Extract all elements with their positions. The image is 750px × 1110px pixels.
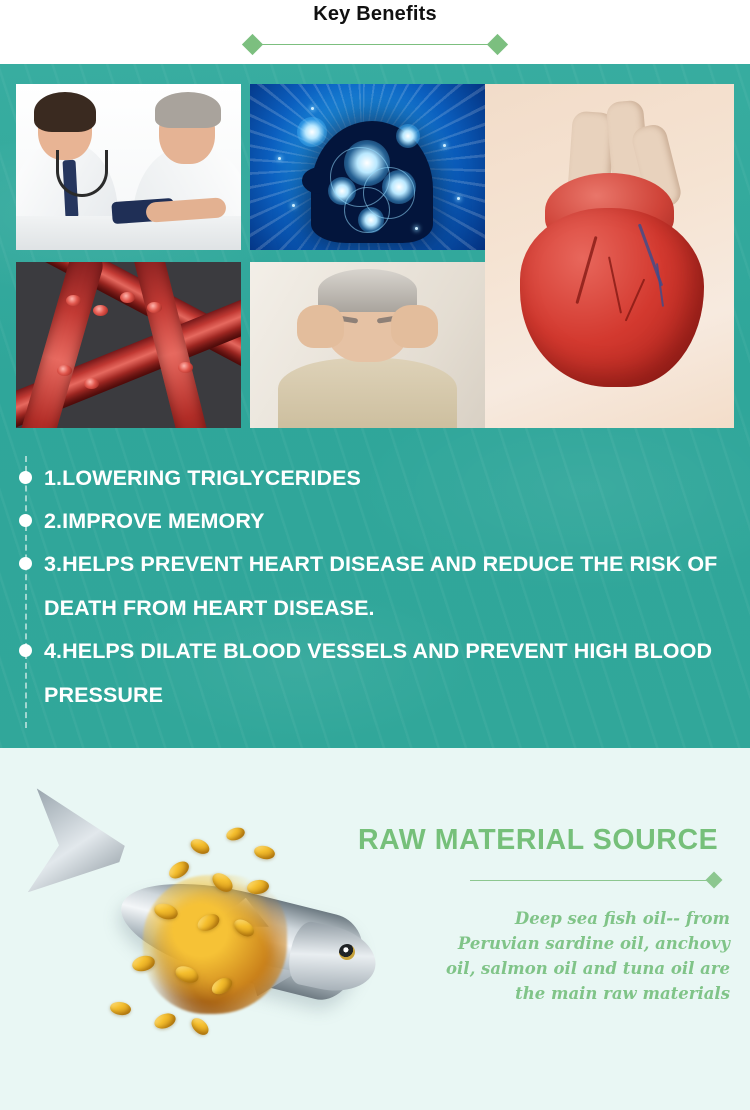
benefit-photo-grid	[16, 84, 734, 428]
hand-on-temple	[391, 305, 438, 348]
neural-glow	[396, 124, 420, 148]
raw-material-section: RAW MATERIAL SOURCE Deep sea fish oil-- …	[0, 748, 750, 1110]
softgel-capsule	[188, 836, 212, 857]
fish-tail	[26, 789, 130, 903]
header-divider	[246, 36, 504, 52]
page-header: Key Benefits	[0, 0, 750, 64]
bullet-icon	[19, 514, 32, 527]
hand-on-temple	[297, 305, 344, 348]
neural-ring	[344, 187, 390, 233]
fish-oil-capsules-photo	[24, 776, 384, 1066]
bullet-icon	[19, 557, 32, 570]
red-blood-cell	[147, 302, 162, 313]
red-blood-cell	[93, 305, 108, 316]
neural-glow	[297, 117, 327, 147]
benefits-section: 1.LOWERING TRIGLYCERIDES 2.IMPROVE MEMOR…	[0, 64, 750, 748]
divider-line	[470, 880, 708, 882]
heart-ventricle	[520, 208, 704, 387]
softgel-capsule	[188, 1014, 211, 1037]
sweater	[278, 358, 457, 428]
list-item: 1.LOWERING TRIGLYCERIDES	[44, 456, 734, 500]
headache-man-photo	[250, 262, 485, 428]
red-blood-cell	[57, 365, 72, 376]
doctor-hair	[34, 92, 96, 132]
patient-hair	[155, 92, 221, 128]
blood-vessel	[16, 262, 106, 428]
raw-material-divider	[470, 874, 720, 886]
red-blood-cell	[66, 295, 81, 306]
softgel-capsule	[224, 826, 246, 843]
page-title: Key Benefits	[0, 3, 750, 26]
softgel-capsule	[152, 1010, 177, 1031]
bullet-icon	[19, 644, 32, 657]
softgel-capsule	[110, 1001, 133, 1017]
list-item: 3.HELPS PREVENT HEART DISEASE AND REDUCE…	[44, 542, 734, 630]
raw-material-heading: RAW MATERIAL SOURCE	[358, 824, 732, 857]
doctor-patient-photo	[16, 84, 241, 250]
diamond-icon	[706, 872, 723, 889]
light-spark	[292, 204, 295, 207]
anatomical-heart-photo	[485, 84, 734, 428]
light-spark	[415, 227, 418, 230]
red-blood-cell	[178, 362, 193, 373]
light-spark	[457, 197, 460, 200]
blood-vessels-photo	[16, 262, 241, 428]
diamond-icon	[487, 34, 508, 55]
bullet-icon	[19, 471, 32, 484]
list-item: 2.IMPROVE MEMORY	[44, 499, 734, 543]
raw-material-description: Deep sea fish oil-- from Peruvian sardin…	[430, 906, 730, 1006]
divider-line	[256, 44, 494, 46]
brain-activity-photo	[250, 84, 485, 250]
benefits-list: 1.LOWERING TRIGLYCERIDES 2.IMPROVE MEMOR…	[0, 456, 750, 746]
timeline-dashed-line	[25, 456, 27, 728]
red-blood-cell	[84, 378, 99, 389]
light-spark	[443, 144, 446, 147]
softgel-capsule	[253, 844, 276, 861]
man-hair	[318, 269, 417, 312]
list-item: 4.HELPS DILATE BLOOD VESSELS AND PREVENT…	[44, 629, 734, 717]
red-blood-cell	[120, 292, 135, 303]
